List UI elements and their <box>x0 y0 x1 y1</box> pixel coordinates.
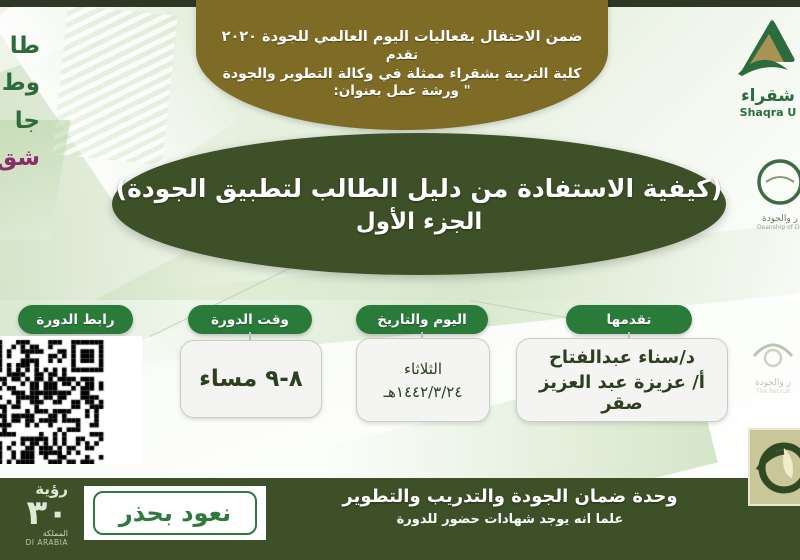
shaqra-university-english: Shaqra U <box>736 106 800 119</box>
vision-2030-logo: رؤية ٣٠ المملكة DI ARABIA <box>0 480 68 552</box>
presenter-name-1: د/سناء عبدالفتاح <box>549 347 695 368</box>
workshop-title-line-2: الجزء الأول <box>356 209 482 235</box>
left-edge-line-2: وط <box>0 65 40 102</box>
shaqra-university-logo: شقراء Shaqra U <box>736 14 800 132</box>
header-line-2: تقدم <box>200 47 604 65</box>
college-emblem-icon <box>750 430 800 504</box>
pill-course-link: رابط الدورة <box>18 305 133 334</box>
course-link-qr-code[interactable] <box>0 336 142 464</box>
vision-2030-sub-english: DI ARABIA <box>0 538 68 547</box>
vision-2030-number: ٣٠ <box>0 497 68 529</box>
qr-code-canvas[interactable] <box>0 336 142 464</box>
pill-day-and-date: اليوم والتاريخ <box>356 305 488 334</box>
presenter-name-2: أ/ عزيزة عبد العزيز صقر <box>517 372 727 414</box>
return-with-caution-label: نعود بحذر <box>93 491 257 535</box>
card-course-time: ٨-٩ مساء <box>180 340 322 418</box>
development-office-english: The Recruit <box>744 388 800 395</box>
pill-course-time-label: وقت الدورة <box>211 312 289 328</box>
pill-day-and-date-label: اليوم والتاريخ <box>377 312 467 328</box>
quality-deanship-circle-icon <box>754 156 800 208</box>
card-day-and-date: الثلاثاء ١٤٤٢/٣/٢٤هـ <box>356 338 490 422</box>
left-edge-line-3: جا <box>0 103 40 140</box>
vision-2030-sub-arabic: المملكة <box>0 529 68 538</box>
course-time-value: ٨-٩ مساء <box>199 366 303 392</box>
header-line-3: كلية التربية بشقراء ممثلة في وكالة التطو… <box>200 65 604 83</box>
course-hijri-date-value: ١٤٤٢/٣/٢٤هـ <box>384 383 463 401</box>
development-office-logo: ر والجودة The Recruit <box>744 326 800 418</box>
footer-certificate-note: علما انه يوجد شهادات حضور للدورة <box>300 512 720 527</box>
pill-course-link-label: رابط الدورة <box>36 312 114 328</box>
footer-unit-name: وحدة ضمان الجودة والتدريب والتطوير <box>300 486 720 507</box>
background-stripe-pattern <box>52 5 177 166</box>
pill-course-time: وقت الدورة <box>188 305 312 334</box>
college-emblem-logo <box>748 428 800 506</box>
pill-presented-by: تقدمها <box>566 305 692 334</box>
quality-deanship-logo: ر والجودة Deanship of De <box>752 156 800 252</box>
card-presenters: د/سناء عبدالفتاح أ/ عزيزة عبد العزيز صقر <box>516 338 728 422</box>
poster-root: ضمن الاحتفال بفعاليات اليوم العالمي للجو… <box>0 0 800 560</box>
return-with-caution-badge: نعود بحذر <box>84 486 266 540</box>
workshop-title-oval: (كيفية الاستفادة من دليل الطالب لتطبيق ا… <box>112 133 726 275</box>
quality-deanship-english: Deanship of De <box>752 224 800 231</box>
development-office-arabic: ر والجودة <box>744 378 800 388</box>
pill-presented-by-label: تقدمها <box>607 312 652 328</box>
shaqra-university-arabic: شقراء <box>736 86 800 106</box>
header-text-block: ضمن الاحتفال بفعاليات اليوم العالمي للجو… <box>200 28 604 101</box>
workshop-title-line-1: (كيفية الاستفادة من دليل الطالب لتطبيق ا… <box>116 174 723 203</box>
left-edge-line-4: شق <box>0 140 40 177</box>
footer-text-block: وحدة ضمان الجودة والتدريب والتطوير علما … <box>300 486 720 527</box>
shaqra-university-mark-icon <box>736 14 800 80</box>
quality-deanship-arabic: ر والجودة <box>752 214 800 224</box>
left-edge-cropped-text: طا وط جا شق <box>0 28 40 198</box>
course-day-value: الثلاثاء <box>404 360 442 378</box>
development-office-icon <box>748 326 798 374</box>
header-line-4: " ورشة عمل بعنوان: <box>200 83 604 101</box>
header-line-1: ضمن الاحتفال بفعاليات اليوم العالمي للجو… <box>200 28 604 47</box>
left-edge-line-1: طا <box>0 28 40 65</box>
